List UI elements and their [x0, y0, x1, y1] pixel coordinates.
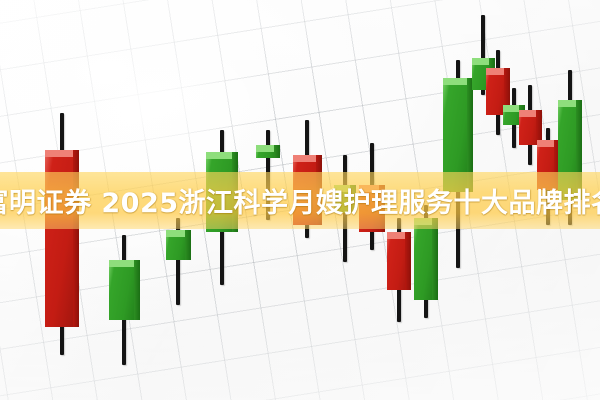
candle-body [256, 145, 280, 158]
candle-side-face [185, 230, 191, 260]
candle-body [166, 230, 191, 260]
candle-body [414, 218, 438, 300]
candlestick-3 [166, 218, 191, 305]
candlestick-9 [387, 218, 411, 322]
candlestick-2 [109, 235, 140, 365]
candle-side-face [405, 232, 411, 290]
banner-title-text: 富明证券 2025浙江科学月嫂护理服务十大品牌排名 [0, 181, 600, 220]
candle-body [109, 260, 140, 320]
candlestick-11 [443, 60, 473, 268]
candle-body [387, 232, 411, 290]
candlestick-chart-image: 富明证券 2025浙江科学月嫂护理服务十大品牌排名 [0, 0, 600, 400]
candle-side-face [134, 260, 140, 320]
candlestick-1 [45, 113, 79, 355]
title-banner: 富明证券 2025浙江科学月嫂护理服务十大品牌排名 [0, 172, 600, 229]
candle-side-face [432, 218, 438, 300]
candle-side-face [274, 145, 280, 158]
